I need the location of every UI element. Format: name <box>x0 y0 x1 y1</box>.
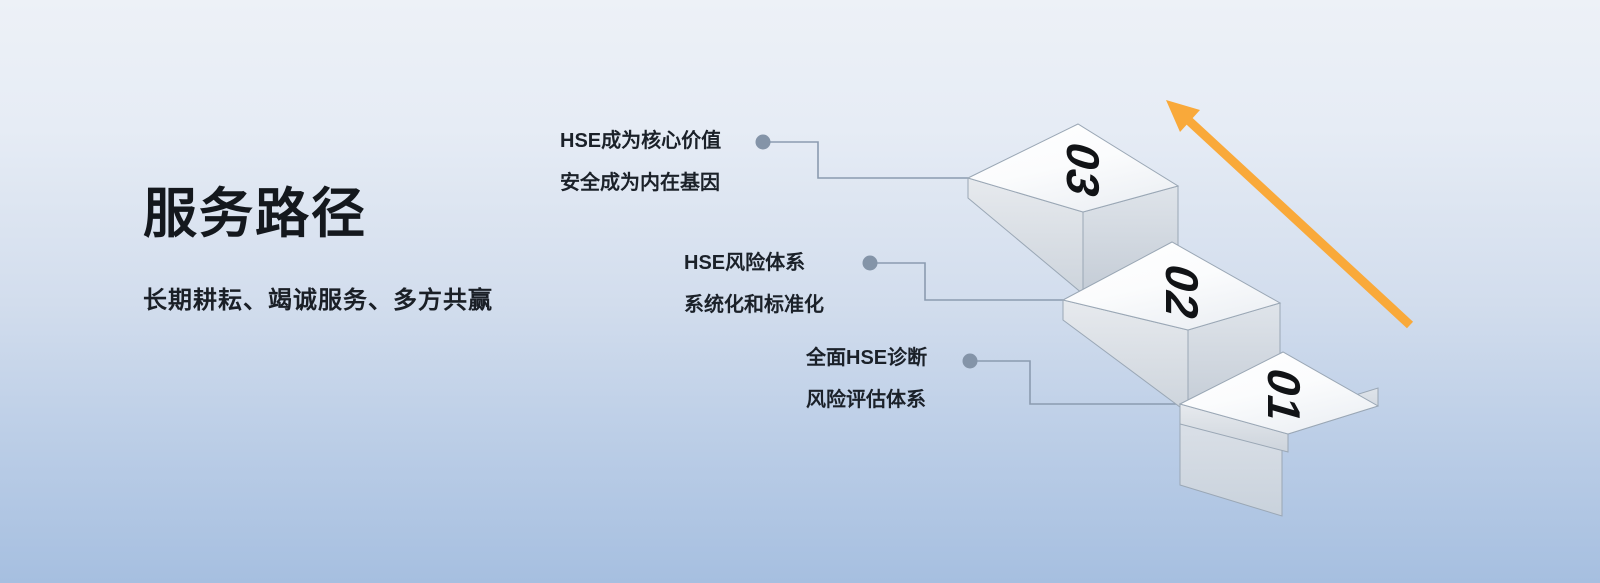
connector-01-dot <box>963 354 978 369</box>
connector-02 <box>863 256 1064 301</box>
connector-02-dot <box>863 256 878 271</box>
slide-canvas: 服务路径 长期耕耘、竭诚服务、多方共赢 HSE成为核心价值 安全成为内在基因 H… <box>0 0 1600 583</box>
connector-03 <box>756 135 969 179</box>
connector-03-line <box>767 142 968 178</box>
connector-02-line <box>875 263 1063 300</box>
staircase-diagram: 03 02 01 <box>0 0 1600 583</box>
connector-03-dot <box>756 135 771 150</box>
